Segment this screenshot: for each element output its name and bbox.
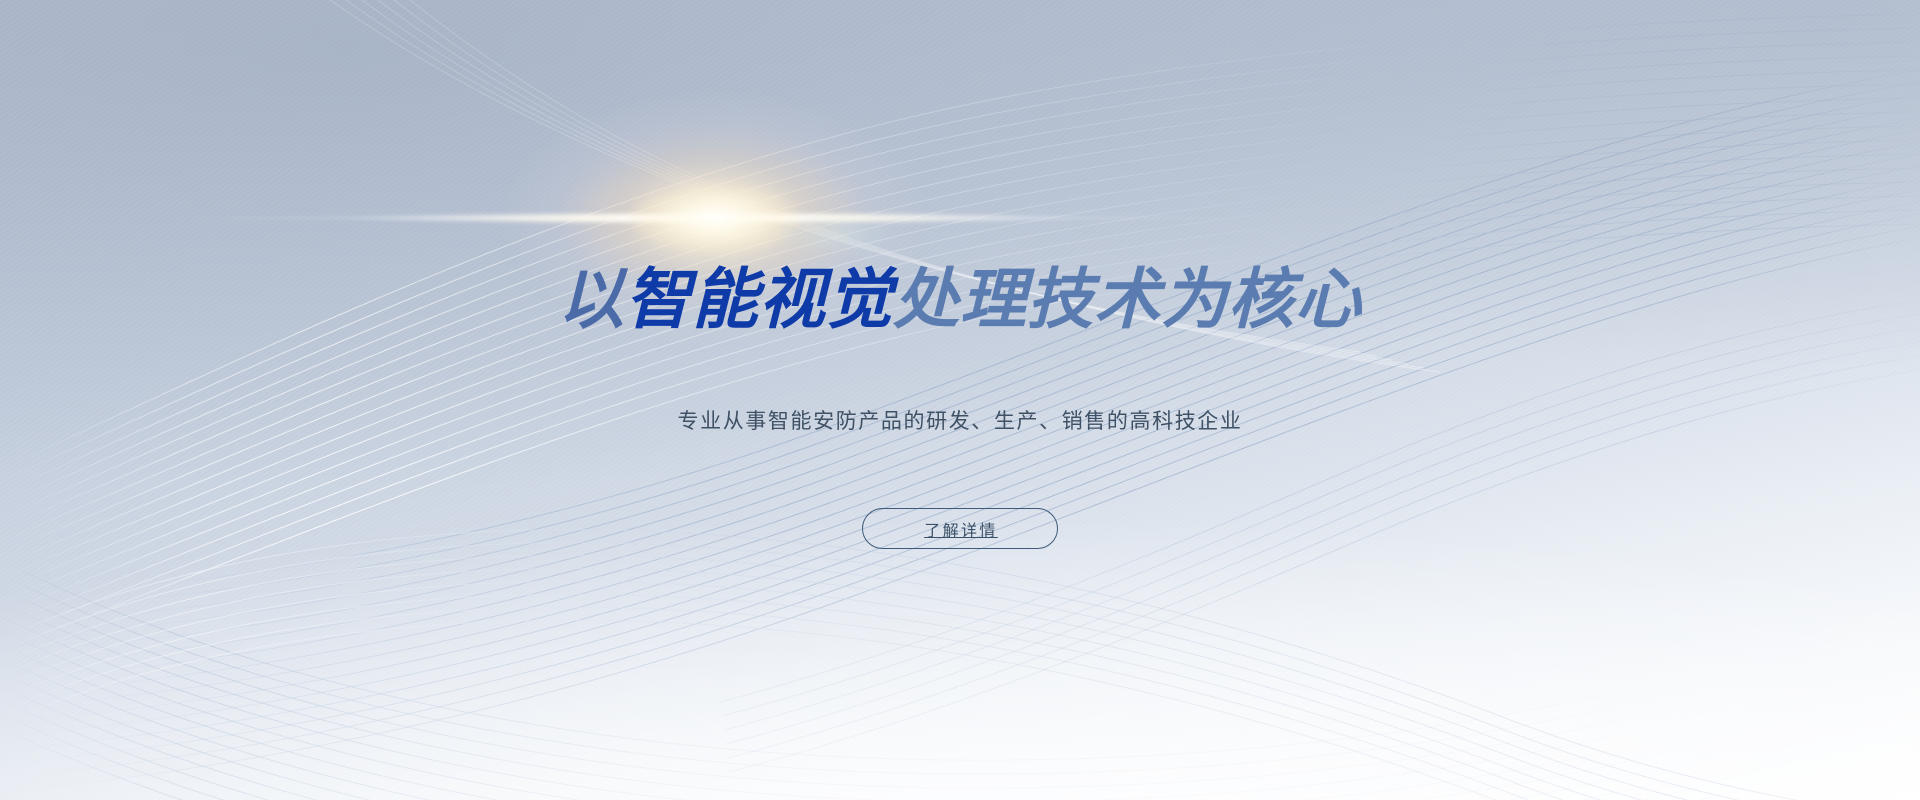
banner-subtitle: 专业从事智能安防产品的研发、生产、销售的高科技企业	[678, 406, 1243, 436]
headline-segment-1: 以	[558, 263, 625, 337]
hero-banner: 以智能视觉处理技术为核心 专业从事智能安防产品的研发、生产、销售的高科技企业 了…	[0, 0, 1920, 800]
banner-content: 以智能视觉处理技术为核心 专业从事智能安防产品的研发、生产、销售的高科技企业 了…	[0, 0, 1920, 800]
headline-segment-3: 处理技术为核心	[893, 263, 1362, 337]
headline-segment-2: 智能视觉	[625, 263, 893, 337]
banner-headline: 以智能视觉处理技术为核心	[558, 263, 1362, 337]
learn-more-button[interactable]: 了解详情	[862, 508, 1058, 549]
